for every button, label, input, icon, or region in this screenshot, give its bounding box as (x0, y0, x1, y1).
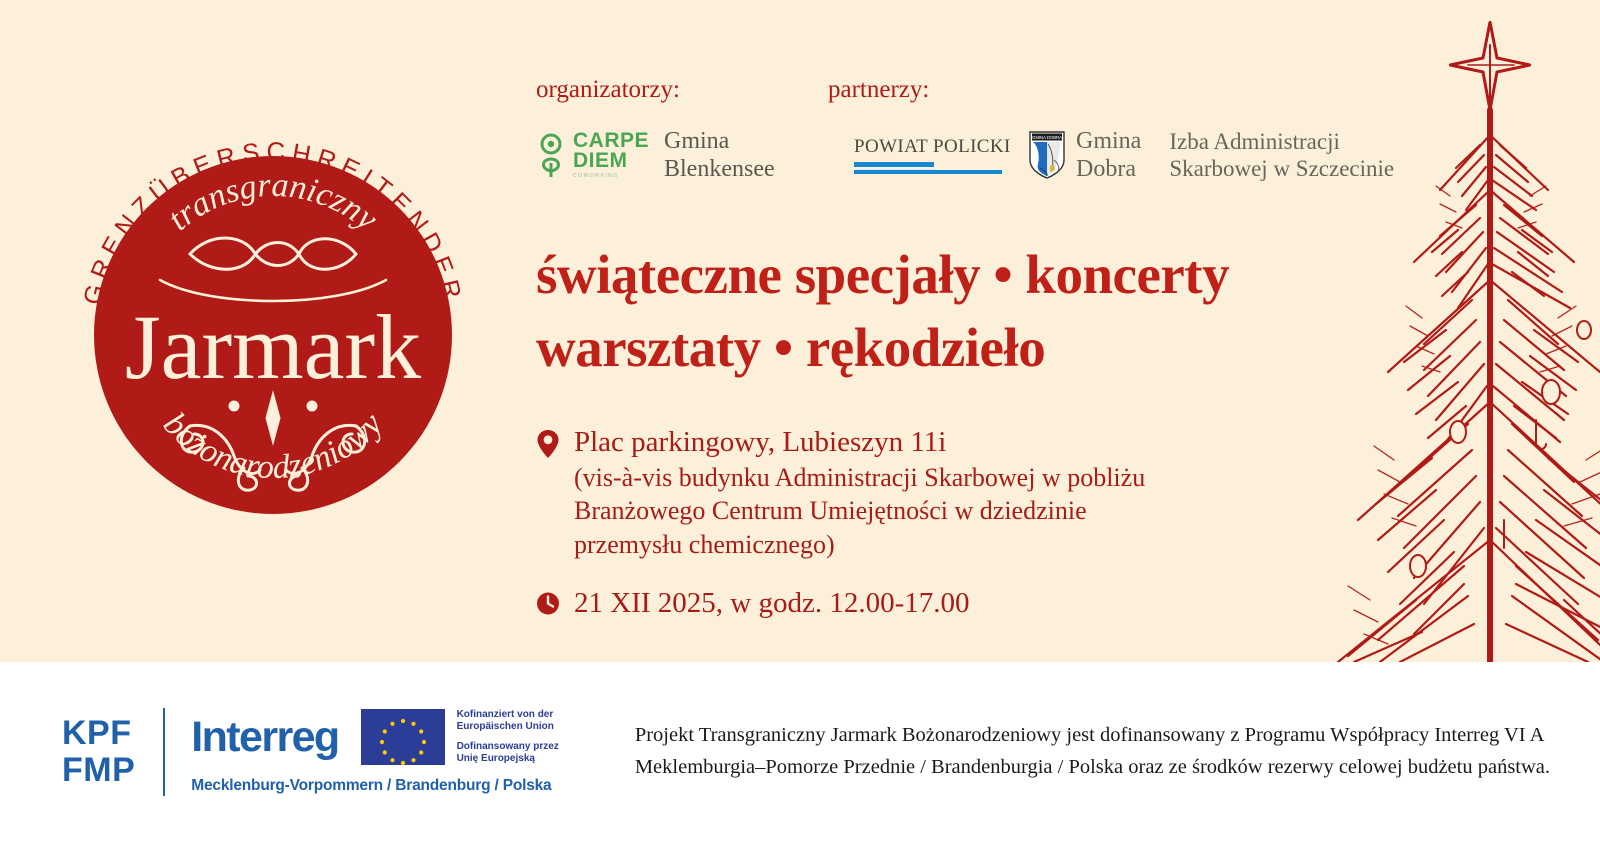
gmina-dobra-crest-icon: GMINA DOBRA (1028, 130, 1066, 180)
poster-main: GRENZÜBERSCHREITENDER WEIHNACHTSMARKT tr… (0, 0, 1600, 662)
logo-powiat-policki: POWIAT POLICKI (854, 136, 1002, 175)
seal-main-wordmark: Jarmark (125, 296, 421, 398)
headline-line-1: świąteczne specjały • koncerty (536, 238, 1276, 311)
logo-gmina-dobra: GMINA DOBRA Gmina Dobra (1028, 127, 1141, 184)
jarmark-seal-logo: GRENZÜBERSCHREITENDER WEIHNACHTSMARKT tr… (38, 100, 508, 570)
interreg-regions: Mecklenburg-Vorpommern / Brandenburg / P… (191, 777, 559, 795)
partners-label: partnerzy: (828, 76, 929, 104)
dobra-line-2: Dobra (1076, 155, 1141, 183)
blenkensee-line-2: Blenkensee (664, 155, 775, 183)
eu-text-pl-2: Unię Europejską (457, 753, 559, 766)
clock-icon (536, 590, 560, 620)
kpf-line-1: KPF (62, 715, 135, 751)
event-details: Plac parkingowy, Lubieszyn 11i (vis-à-vi… (536, 424, 1236, 642)
detail-datetime: 21 XII 2025, w godz. 12.00-17.00 (536, 585, 1236, 622)
flourish-top-ornament (160, 238, 386, 301)
location-note-2: Branżowego Centrum Umiejętności w dziedz… (574, 494, 1236, 527)
footer-funding-note: Projekt Transgraniczny Jarmark Bożonarod… (635, 720, 1550, 782)
footer-note-line-1: Projekt Transgraniczny Jarmark Bożonarod… (635, 720, 1550, 751)
izba-line-2: Skarbowej w Szczecinie (1169, 155, 1394, 182)
logo-carpe-diem: CARPE DIEM COWORKING (536, 131, 664, 179)
headline: świąteczne specjały • koncerty warsztaty… (536, 238, 1276, 384)
kpf-line-2: FMP (62, 752, 135, 788)
footer-logos: KPF FMP Interreg (62, 697, 559, 807)
carpe-subtitle: COWORKING (573, 174, 649, 179)
dobra-line-1: Gmina (1076, 127, 1141, 155)
detail-location: Plac parkingowy, Lubieszyn 11i (vis-à-vi… (536, 424, 1236, 561)
location-main: Plac parkingowy, Lubieszyn 11i (574, 424, 1236, 461)
location-pin-icon (536, 429, 560, 459)
logo-interreg: Interreg Kof (191, 709, 559, 795)
footer-bar: KPF FMP Interreg (0, 662, 1600, 841)
carpe-word-2: DIEM (573, 151, 649, 171)
eu-funding-text: Kofinanziert von der Europäischen Union … (457, 709, 559, 766)
logo-gmina-blenkensee: Gmina Blenkensee (664, 127, 836, 184)
footer-divider (163, 708, 165, 796)
datetime-text: 21 XII 2025, w godz. 12.00-17.00 (574, 585, 1236, 622)
location-note-1: (vis-à-vis budynku Administracji Skarbow… (574, 461, 1236, 494)
powiat-policki-label: POWIAT POLICKI (854, 136, 1011, 158)
svg-text:GMINA DOBRA: GMINA DOBRA (1032, 135, 1062, 140)
headline-line-2: warsztaty • rękodzieło (536, 311, 1276, 384)
eu-text-de-2: Europäischen Union (457, 721, 559, 734)
svg-text:transgraniczny: transgraniczny (161, 167, 385, 239)
logo-izba-administracji-skarbowej: Izba Administracji Skarbowej w Szczecini… (1169, 128, 1394, 182)
location-note-3: przemysłu chemicznego) (574, 528, 1236, 561)
blenkensee-line-1: Gmina (664, 127, 775, 155)
logo-kpf-fmp: KPF FMP (62, 715, 135, 787)
credits-block: organizatorzy: partnerzy: CARPE DIEM C (536, 76, 1396, 110)
eu-text-pl-1: Dofinansowany przez (457, 741, 559, 754)
carpe-word-1: CARPE (573, 131, 649, 151)
footer-note-line-2: Meklemburgia–Pomorze Przednie / Brandenb… (635, 752, 1550, 783)
seal-inner-top-text: transgraniczny (161, 167, 385, 239)
star-topper-icon (1450, 22, 1530, 110)
powiat-bars-graphic (854, 162, 1011, 175)
organizers-label: organizatorzy: (536, 76, 680, 104)
eu-flag-icon (361, 709, 445, 765)
flower-sprout-icon (536, 133, 566, 177)
izba-line-1: Izba Administracji (1169, 128, 1394, 155)
eu-text-de-1: Kofinanziert von der (457, 709, 559, 722)
interreg-wordmark: Interreg (191, 713, 338, 762)
